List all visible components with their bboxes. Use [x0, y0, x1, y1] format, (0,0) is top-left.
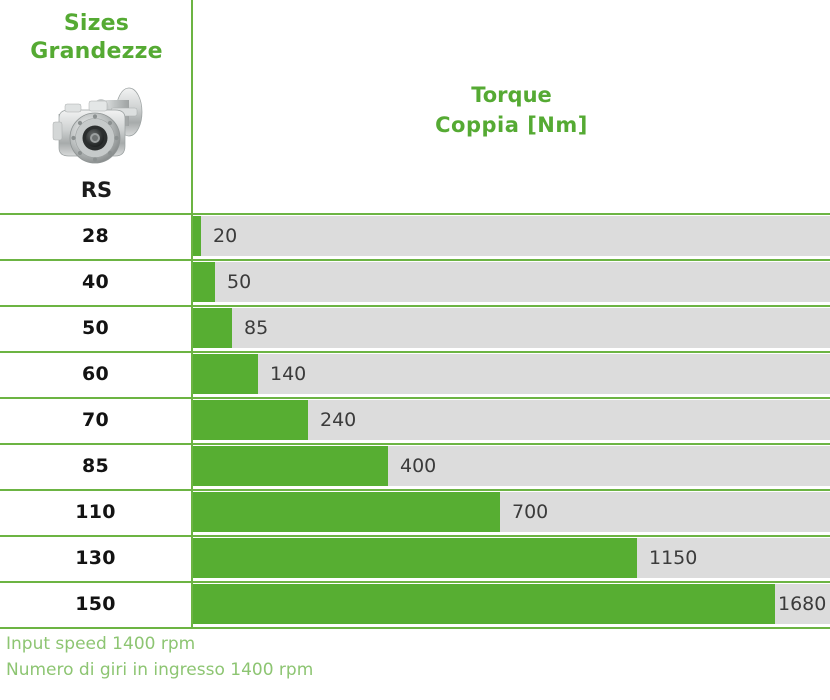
torque-bar	[193, 446, 388, 486]
table-row: 110700	[0, 489, 830, 535]
bar-track: 240	[193, 400, 830, 440]
bar-track: 700	[193, 492, 830, 532]
footer-note-en: Input speed 1400 rpm	[6, 634, 195, 654]
size-label: 130	[0, 535, 191, 581]
bar-value-label: 20	[213, 216, 237, 256]
bar-value-label: 1680	[778, 584, 826, 624]
bar-value-label: 400	[400, 446, 436, 486]
torque-chart: Sizes Grandezze	[0, 0, 830, 700]
bar-value-label: 50	[227, 262, 251, 302]
torque-bar	[193, 584, 775, 624]
bar-value-label: 140	[270, 354, 306, 394]
sizes-header-title: Sizes Grandezze	[0, 0, 193, 65]
table-row: 2820	[0, 213, 830, 259]
torque-bar	[193, 308, 232, 348]
sizes-label-en: Sizes	[64, 11, 129, 36]
worm-gearbox-image	[0, 82, 193, 170]
size-label: 70	[0, 397, 191, 443]
bar-track: 20	[193, 216, 830, 256]
table-row: 5085	[0, 305, 830, 351]
size-label: 28	[0, 213, 191, 259]
chart-rows: 2820405050856014070240854001107001301150…	[0, 213, 830, 627]
torque-bar	[193, 354, 258, 394]
bar-track: 140	[193, 354, 830, 394]
product-code-label: RS	[0, 178, 193, 202]
footer-note-it: Numero di giri in ingresso 1400 rpm	[6, 660, 313, 680]
torque-label-it: Coppia [Nm]	[193, 110, 830, 140]
bar-track: 1680	[193, 584, 830, 624]
size-label: 50	[0, 305, 191, 351]
torque-label-en: Torque	[471, 83, 552, 107]
chart-footer: Input speed 1400 rpm Numero di giri in i…	[0, 627, 830, 700]
bar-track: 1150	[193, 538, 830, 578]
sizes-label-it: Grandezze	[0, 38, 193, 66]
torque-bar	[193, 262, 215, 302]
bar-track: 50	[193, 262, 830, 302]
torque-bar	[193, 492, 500, 532]
bar-value-label: 240	[320, 400, 356, 440]
table-row: 85400	[0, 443, 830, 489]
torque-bar	[193, 538, 637, 578]
table-row: 1501680	[0, 581, 830, 627]
size-label: 150	[0, 581, 191, 627]
size-label: 40	[0, 259, 191, 305]
table-row: 70240	[0, 397, 830, 443]
sizes-header-cell: Sizes Grandezze	[0, 0, 193, 213]
table-row: 4050	[0, 259, 830, 305]
size-label: 60	[0, 351, 191, 397]
size-label: 110	[0, 489, 191, 535]
chart-header: Sizes Grandezze	[0, 0, 830, 213]
torque-header-cell: Torque Coppia [Nm]	[193, 0, 830, 213]
size-label: 85	[0, 443, 191, 489]
torque-bar	[193, 400, 308, 440]
bar-track: 85	[193, 308, 830, 348]
torque-bar	[193, 216, 201, 256]
table-row: 60140	[0, 351, 830, 397]
bar-value-label: 700	[512, 492, 548, 532]
bar-track: 400	[193, 446, 830, 486]
header-vertical-divider	[191, 0, 193, 213]
table-row: 1301150	[0, 535, 830, 581]
gearbox-icon	[39, 84, 155, 168]
bar-value-label: 1150	[649, 538, 697, 578]
torque-header-title: Torque Coppia [Nm]	[193, 80, 830, 141]
bar-value-label: 85	[244, 308, 268, 348]
